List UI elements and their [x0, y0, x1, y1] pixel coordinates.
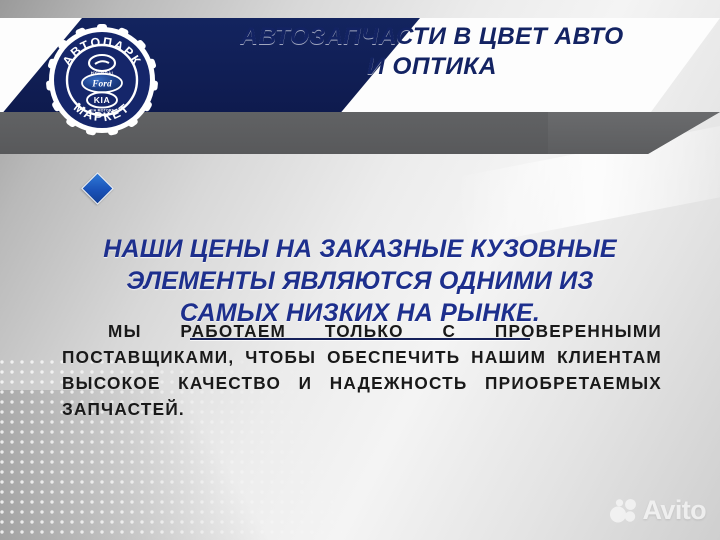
avito-watermark: Avito — [609, 495, 707, 526]
advertisement-poster: АВТОЗАПЧАСТИ В ЦВЕТ АВТО И ОПТИКА — [0, 0, 720, 540]
svg-text:KIA: KIA — [94, 95, 111, 105]
headline-section: НАШИ ЦЕНЫ НА ЗАКАЗНЫЕ КУЗОВНЫЕ ЭЛЕМЕНТЫ … — [0, 168, 720, 340]
ford-logo-icon: Ford — [82, 74, 122, 92]
body-paragraph: МЫ РАБОТАЕМ ТОЛЬКО С ПРОВЕРЕННЫМИ ПОСТАВ… — [62, 318, 662, 423]
headline-block: НАШИ ЦЕНЫ НА ЗАКАЗНЫЕ КУЗОВНЫЕ ЭЛЕМЕНТЫ … — [80, 168, 640, 329]
avito-wordmark: Avito — [643, 495, 707, 526]
headline-text: НАШИ ЦЕНЫ НА ЗАКАЗНЫЕ КУЗОВНЫЕ ЭЛЕМЕНТЫ … — [103, 235, 616, 328]
header-title: АВТОЗАПЧАСТИ В ЦВЕТ АВТО И ОПТИКА — [232, 22, 632, 82]
header-banner: АВТОЗАПЧАСТИ В ЦВЕТ АВТО И ОПТИКА — [0, 0, 720, 152]
company-logo-badge: АВТОПАРК МАРКЕТ HYUNDAI Ford — [46, 24, 158, 136]
svg-text:KIA MOTORS: KIA MOTORS — [90, 109, 115, 113]
avito-dots-icon — [609, 498, 639, 524]
header-gray-band-accent — [548, 112, 720, 154]
blue-diamond-icon — [81, 172, 114, 205]
svg-text:Ford: Ford — [91, 80, 112, 90]
kia-logo-icon: KIA KIA MOTORS — [87, 92, 117, 112]
